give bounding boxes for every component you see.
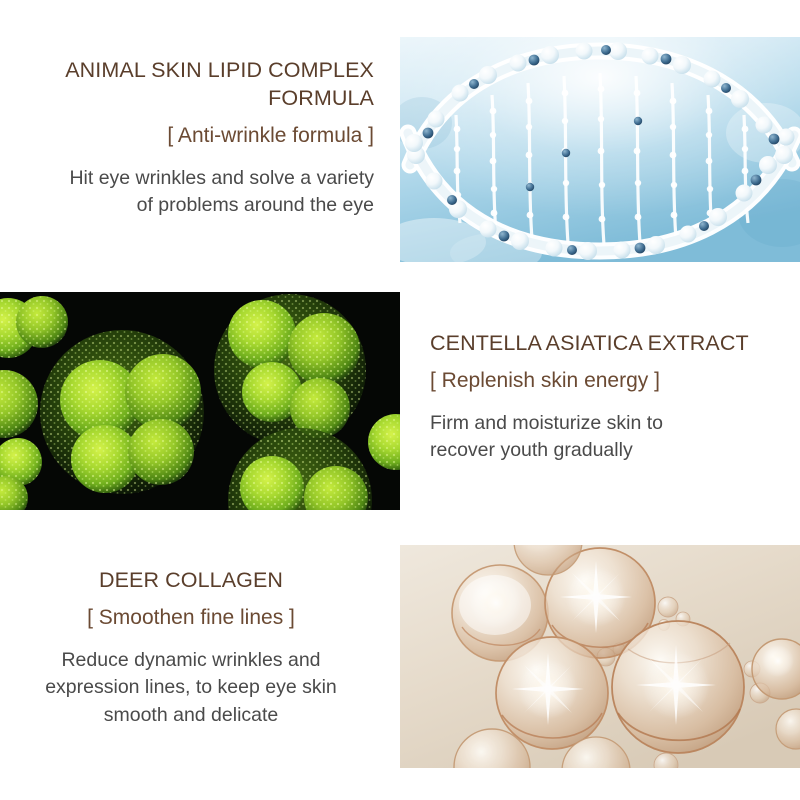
section-collagen-subtitle: [ Smoothen fine lines ] bbox=[8, 604, 374, 632]
section-lipid-text: ANIMAL SKIN LIPID COMPLEX FORMULA [ Anti… bbox=[0, 57, 374, 220]
section-centella-subtitle: [ Replenish skin energy ] bbox=[430, 367, 794, 395]
section-lipid-body: Hit eye wrinkles and solve a variety of … bbox=[0, 165, 374, 220]
section-collagen-heading: DEER COLLAGEN bbox=[8, 567, 374, 595]
green-cells-microscopy-image bbox=[0, 292, 400, 510]
section-lipid-heading: ANIMAL SKIN LIPID COMPLEX FORMULA bbox=[0, 57, 374, 113]
section-collagen-text: DEER COLLAGEN [ Smoothen fine lines ] Re… bbox=[8, 567, 374, 730]
golden-bubbles-image bbox=[400, 545, 800, 768]
infographic-page: ANIMAL SKIN LIPID COMPLEX FORMULA [ Anti… bbox=[0, 0, 800, 800]
section-centella-heading: CENTELLA ASIATICA EXTRACT bbox=[430, 330, 794, 358]
section-centella-body: Firm and moisturize skin to recover yout… bbox=[430, 410, 794, 465]
section-lipid-subtitle: [ Anti-wrinkle formula ] bbox=[0, 122, 374, 150]
section-centella-text: CENTELLA ASIATICA EXTRACT [ Replenish sk… bbox=[430, 330, 794, 465]
dna-double-helix-image bbox=[400, 37, 800, 262]
section-collagen-body: Reduce dynamic wrinkles and expression l… bbox=[8, 647, 374, 730]
